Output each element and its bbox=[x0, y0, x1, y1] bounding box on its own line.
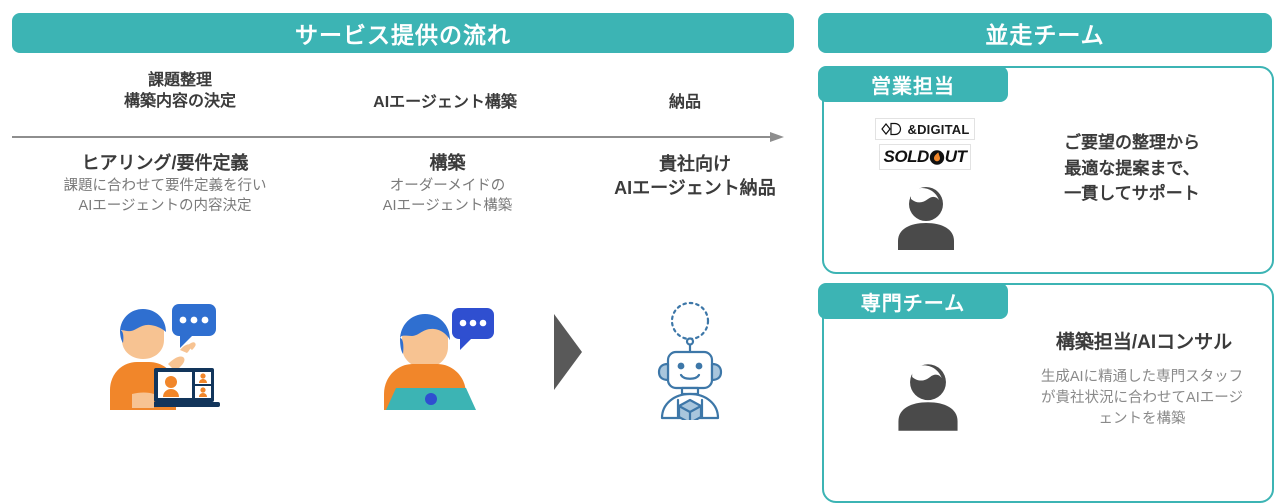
ai-bubble-icon bbox=[672, 303, 708, 339]
flow-step-desc: オーダーメイドの AIエージェント構築 bbox=[330, 177, 565, 216]
speech-bubble-icon bbox=[172, 304, 216, 348]
logo-ddigital-text: &DIGITAL bbox=[907, 122, 969, 137]
flow-step-title: 構築 bbox=[330, 152, 565, 175]
timeline-line bbox=[12, 136, 770, 138]
flow-step-title: 貴社向け AIエージェント納品 bbox=[590, 152, 800, 201]
flow-step-desc: 課題に合わせて要件定義を行い AIエージェントの内容決定 bbox=[20, 177, 310, 216]
soldout-o-icon bbox=[929, 149, 945, 166]
cube-icon bbox=[679, 400, 701, 420]
flow-step-build: 構築 オーダーメイドの AIエージェント構築 bbox=[330, 152, 565, 217]
logo-soldout-right: UT bbox=[945, 147, 967, 167]
flow-panel: 課題整理 構築内容の決定 AIエージェント構築 納品 ヒアリング/要件定義 課題… bbox=[0, 60, 800, 454]
triangle-right-icon bbox=[552, 312, 586, 397]
card-tab-experts: 専門チーム bbox=[818, 283, 1008, 319]
logo-soldout-left: SOLD bbox=[884, 147, 929, 167]
flow-step-hearing: ヒアリング/要件定義 課題に合わせて要件定義を行い AIエージェントの内容決定 bbox=[20, 152, 310, 217]
ddigital-mark-icon bbox=[880, 121, 904, 137]
arrow-right-icon bbox=[12, 132, 784, 142]
speech-bubble-icon bbox=[452, 308, 494, 350]
person-silhouette-icon bbox=[890, 186, 962, 255]
logo-soldout: SOLD UT bbox=[879, 144, 972, 170]
flow-step-title: ヒアリング/要件定義 bbox=[20, 152, 310, 175]
laptop-icon bbox=[386, 388, 476, 410]
phase-label-delivery: 納品 bbox=[600, 92, 770, 113]
ai-robot-illustration bbox=[648, 300, 732, 425]
phase-label-build: AIエージェント構築 bbox=[330, 92, 560, 113]
partner-logos: &DIGITAL SOLD UT bbox=[866, 118, 984, 170]
person-silhouette-icon bbox=[890, 363, 966, 436]
person-laptop-illustration bbox=[378, 298, 496, 415]
card-tab-sales: 営業担当 bbox=[818, 66, 1008, 102]
experts-description: 生成AIに精通した専門スタッフ が貴社状況に合わせてAIエージ ェントを構築 bbox=[1014, 367, 1270, 430]
laptop-screen bbox=[148, 368, 220, 407]
team-panel: &DIGITAL SOLD UT ご要望の整理から 最適な提案まで、 一貫してサ… bbox=[818, 60, 1274, 454]
person-video-call-illustration bbox=[92, 298, 220, 415]
flow-section-header: サービス提供の流れ bbox=[12, 13, 794, 53]
sales-support-text: ご要望の整理から 最適な提案まで、 一貫してサポート bbox=[1014, 130, 1250, 207]
experts-role-title: 構築担当/AIコンサル bbox=[1020, 327, 1268, 354]
arrow-head bbox=[770, 132, 784, 142]
phase-label-requirements: 課題整理 構築内容の決定 bbox=[60, 70, 300, 113]
team-section-header: 並走チーム bbox=[818, 13, 1272, 53]
logo-ddigital: &DIGITAL bbox=[875, 118, 974, 140]
flow-step-delivery: 貴社向け AIエージェント納品 bbox=[590, 152, 800, 201]
